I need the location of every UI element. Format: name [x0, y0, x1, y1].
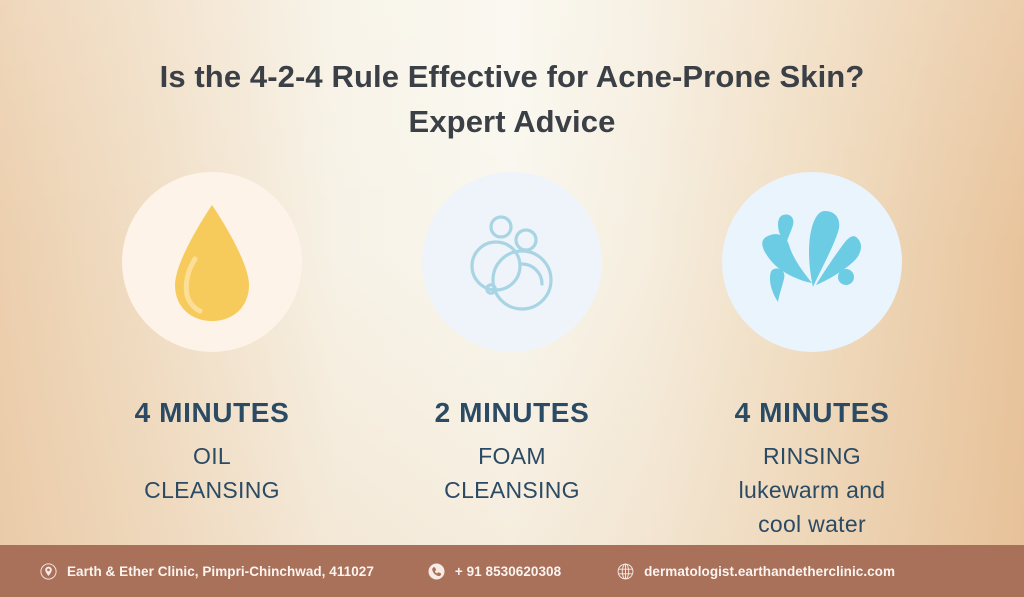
- footer-website: dermatologist.earthandetherclinic.com: [617, 563, 895, 580]
- step-desc-line-1: OIL: [135, 439, 290, 473]
- page-title: Is the 4-2-4 Rule Effective for Acne-Pro…: [0, 54, 1024, 144]
- footer-contact-bar: Earth & Ether Clinic, Pimpri-Chinchwad, …: [0, 545, 1024, 597]
- step-desc-line-2: CLEANSING: [435, 473, 590, 507]
- step-desc-line-3: cool water: [735, 507, 890, 541]
- bubbles-icon-circle: [422, 172, 602, 352]
- step-minutes: 2 MINUTES: [435, 396, 590, 430]
- step-desc-line-2: CLEANSING: [135, 473, 290, 507]
- step-description: OIL CLEANSING: [135, 439, 290, 507]
- title-line-1: Is the 4-2-4 Rule Effective for Acne-Pro…: [0, 54, 1024, 99]
- step-minutes: 4 MINUTES: [735, 396, 890, 430]
- bubbles-icon: [452, 202, 572, 322]
- step-column-rinsing: 4 MINUTES RINSING lukewarm and cool wate…: [662, 172, 962, 541]
- oil-drop-icon-circle: [122, 172, 302, 352]
- steps-row: 4 MINUTES OIL CLEANSING: [0, 172, 1024, 541]
- step-labels-oil: 4 MINUTES OIL CLEANSING: [135, 396, 290, 507]
- footer-website-text: dermatologist.earthandetherclinic.com: [644, 564, 895, 579]
- footer-phone-text: + 91 8530620308: [455, 564, 561, 579]
- step-description: RINSING lukewarm and cool water: [735, 439, 890, 541]
- step-labels-foam: 2 MINUTES FOAM CLEANSING: [435, 396, 590, 507]
- step-desc-line-1: RINSING: [735, 439, 890, 473]
- step-column-foam-cleansing: 2 MINUTES FOAM CLEANSING: [362, 172, 662, 541]
- step-column-oil-cleansing: 4 MINUTES OIL CLEANSING: [62, 172, 362, 541]
- water-splash-icon-circle: [722, 172, 902, 352]
- step-description: FOAM CLEANSING: [435, 439, 590, 507]
- footer-location-text: Earth & Ether Clinic, Pimpri-Chinchwad, …: [67, 564, 374, 579]
- title-line-2: Expert Advice: [0, 99, 1024, 144]
- footer-phone: + 91 8530620308: [428, 563, 561, 580]
- water-splash-icon: [752, 207, 872, 317]
- step-minutes: 4 MINUTES: [135, 396, 290, 430]
- footer-location: Earth & Ether Clinic, Pimpri-Chinchwad, …: [40, 563, 374, 580]
- step-desc-line-2: lukewarm and: [735, 473, 890, 507]
- infographic-poster: Is the 4-2-4 Rule Effective for Acne-Pro…: [0, 0, 1024, 597]
- map-pin-icon: [40, 563, 57, 580]
- globe-icon: [617, 563, 634, 580]
- phone-icon: [428, 563, 445, 580]
- oil-drop-icon: [157, 197, 267, 327]
- step-labels-rinsing: 4 MINUTES RINSING lukewarm and cool wate…: [735, 396, 890, 541]
- step-desc-line-1: FOAM: [435, 439, 590, 473]
